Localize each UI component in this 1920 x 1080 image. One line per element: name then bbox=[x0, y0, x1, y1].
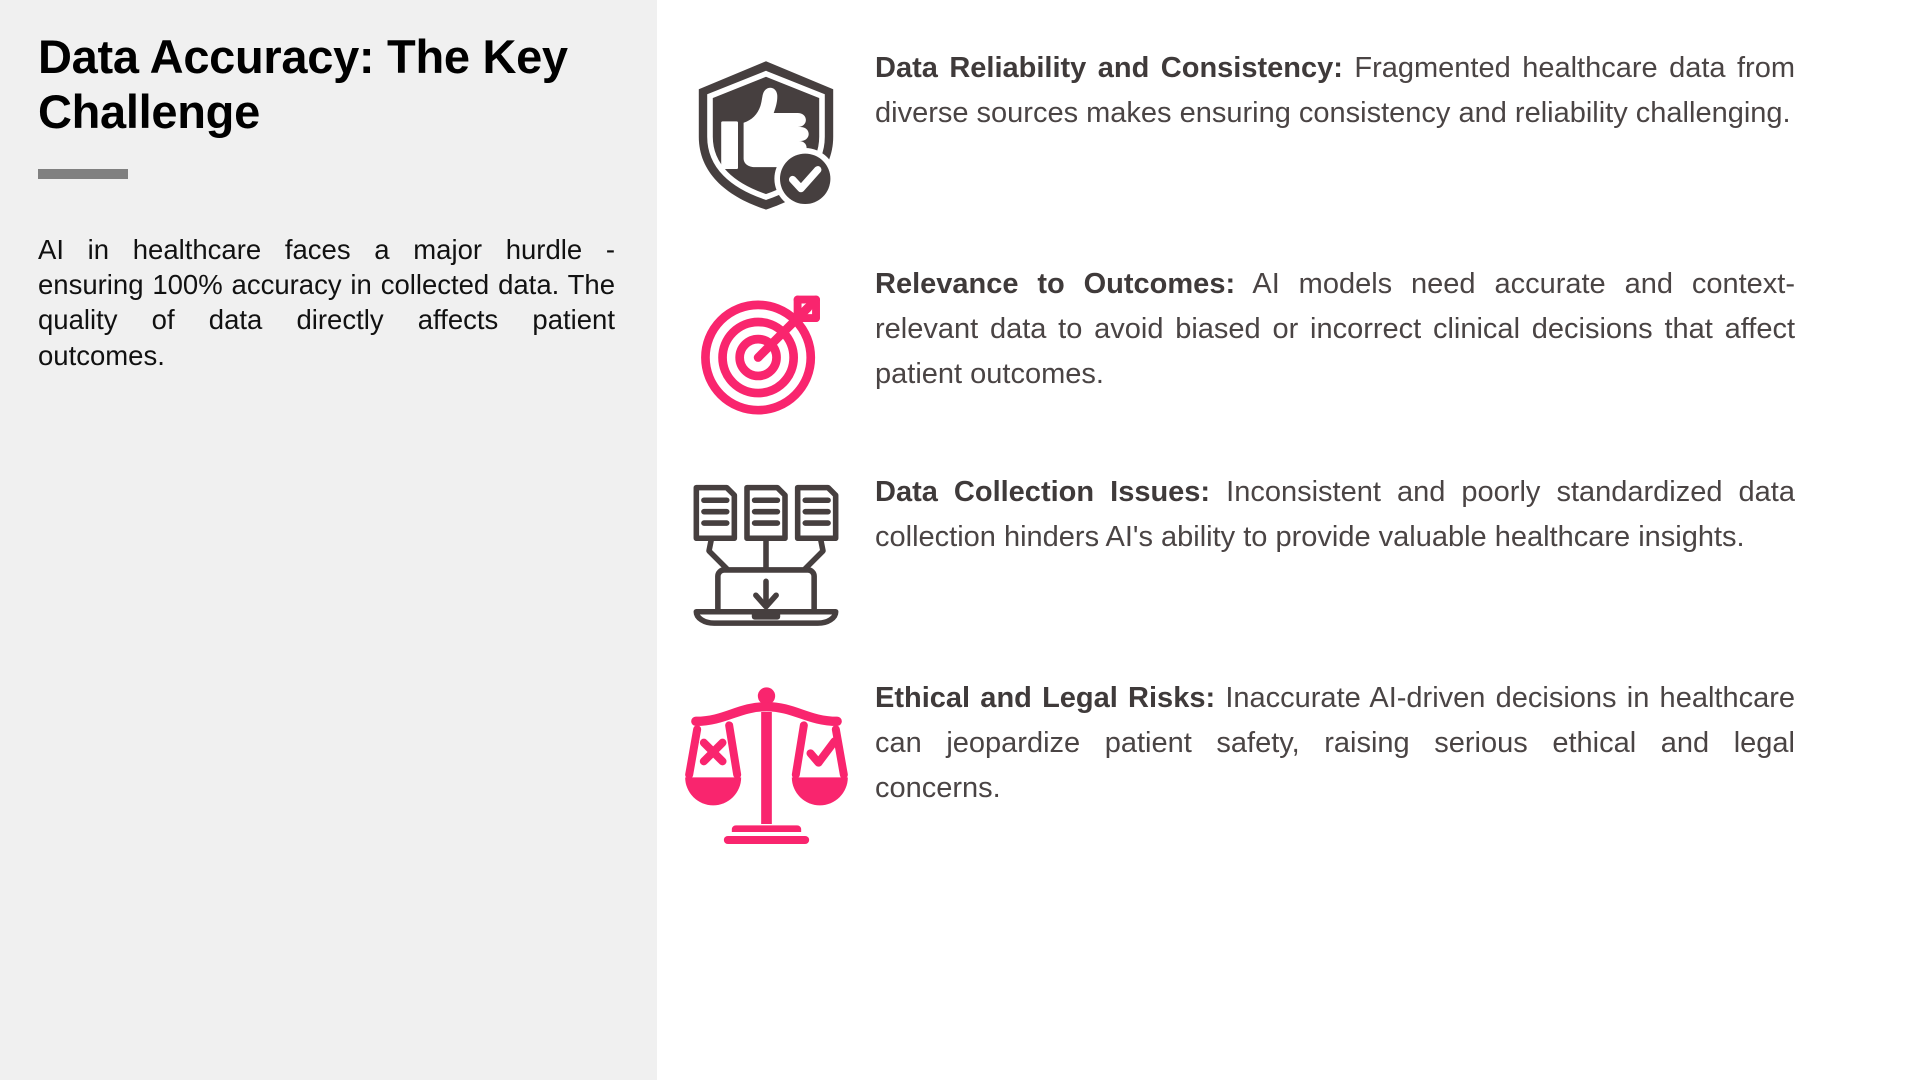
title-divider bbox=[38, 169, 128, 179]
list-item: Data Reliability and Consistency: Fragme… bbox=[657, 46, 1895, 218]
list-item: Ethical and Legal Risks: Inaccurate AI-d… bbox=[657, 676, 1895, 844]
list-item-lead: Data Reliability and Consistency: bbox=[875, 52, 1343, 84]
list-item-lead: Data Collection Issues: bbox=[875, 476, 1210, 508]
page-title: Data Accuracy: The Key Challenge bbox=[38, 30, 583, 139]
list-item-lead: Ethical and Legal Risks: bbox=[875, 682, 1215, 714]
target-arrow-icon bbox=[657, 262, 875, 426]
list-item-text: Data Collection Issues: Inconsistent and… bbox=[875, 470, 1795, 560]
list-item: Data Collection Issues: Inconsistent and… bbox=[657, 470, 1895, 632]
list-item-text: Ethical and Legal Risks: Inaccurate AI-d… bbox=[875, 676, 1795, 812]
balance-scale-check-cross-icon bbox=[657, 676, 875, 844]
documents-to-laptop-download-icon bbox=[657, 470, 875, 632]
left-panel: Data Accuracy: The Key Challenge AI in h… bbox=[0, 0, 657, 1080]
list-item-text: Relevance to Outcomes: AI models need ac… bbox=[875, 262, 1795, 398]
list-item-text: Data Reliability and Consistency: Fragme… bbox=[875, 46, 1795, 136]
shield-thumbs-up-check-icon bbox=[657, 46, 875, 218]
list-item-lead: Relevance to Outcomes: bbox=[875, 268, 1235, 300]
slide-root: Data Accuracy: The Key Challenge AI in h… bbox=[0, 0, 1920, 1080]
items-list: Data Reliability and Consistency: Fragme… bbox=[657, 0, 1920, 1080]
list-item: Relevance to Outcomes: AI models need ac… bbox=[657, 262, 1895, 426]
intro-paragraph: AI in healthcare faces a major hurdle - … bbox=[38, 232, 615, 373]
